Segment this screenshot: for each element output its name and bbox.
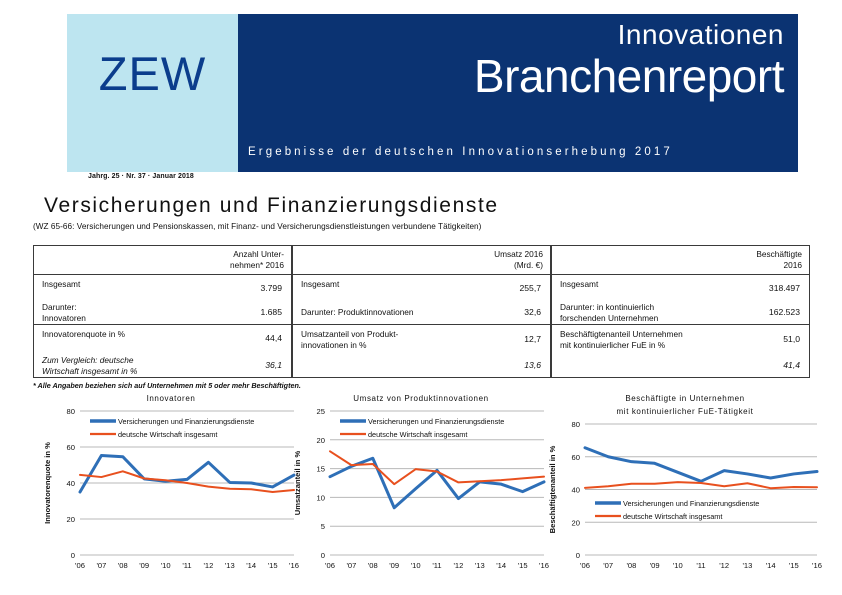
chart-canvas: 0510152025'06'07'08'09'10'11'12'13'14'15… <box>290 405 552 575</box>
x-tick-label: '15 <box>789 561 799 570</box>
y-tick-label: 80 <box>67 407 75 416</box>
row-label: Beschäftigtenanteil Unternehmen mit kont… <box>560 329 683 350</box>
row-label-l2: Innovatoren <box>42 313 86 323</box>
legend-label: Versicherungen und Finanzierungsdienste <box>118 417 254 426</box>
issue-line: Jahrg. 25 · Nr. 37 · Januar 2018 <box>88 173 194 180</box>
x-tick-label: '10 <box>411 561 421 570</box>
y-tick-label: 0 <box>576 551 580 560</box>
zew-logo-panel: ZEW <box>67 14 238 137</box>
kpi-group-employees-share: Beschäftigtenanteil Unternehmen mit kont… <box>551 325 810 378</box>
table-row: Beschäftigtenanteil Unternehmen mit kont… <box>552 325 809 351</box>
chart-canvas: 020406080'06'07'08'09'10'11'12'13'14'15'… <box>40 405 302 575</box>
masthead-title-line2: Branchenreport <box>474 53 784 99</box>
table-row: Innovatorenquote in % 44,4 <box>34 325 291 351</box>
y-tick-label: 20 <box>317 436 325 445</box>
row-value: 3.799 <box>260 283 282 293</box>
chart-umsatz: Umsatz von Produktinnovationen 051015202… <box>290 392 552 577</box>
chart-title: Innovatoren <box>40 392 302 405</box>
masthead-subtitle-spacer <box>67 137 238 172</box>
row-label-l1: Beschäftigtenanteil Unternehmen <box>560 329 683 339</box>
row-label-l1: Zum Vergleich: deutsche <box>42 355 133 365</box>
row-value: 255,7 <box>519 283 541 293</box>
masthead-subtitle-panel: Ergebnisse der deutschen Innovationserhe… <box>238 137 798 172</box>
chart-title: Umsatz von Produktinnovationen <box>290 392 552 405</box>
x-tick-label: '06 <box>325 561 335 570</box>
row-label: Umsatzanteil von Produkt- innovationen i… <box>301 329 398 350</box>
row-value: 318.497 <box>769 283 800 293</box>
row-label-l2: innovationen in % <box>301 340 367 350</box>
kpi-header-revenue-l1: Umsatz 2016 <box>494 249 543 259</box>
table-row: Zum Vergleich: deutsche Wirtschaft insge… <box>34 351 291 377</box>
x-tick-label: '10 <box>673 561 683 570</box>
x-tick-label: '12 <box>453 561 463 570</box>
masthead-subtitle-text: Ergebnisse der deutschen Innovationserhe… <box>248 146 673 158</box>
row-label: Zum Vergleich: deutsche Wirtschaft insge… <box>42 355 137 376</box>
x-tick-label: '06 <box>580 561 590 570</box>
x-tick-label: '08 <box>118 561 128 570</box>
row-value: 51,0 <box>783 334 800 344</box>
row-label: Insgesamt <box>42 279 80 290</box>
kpi-group-revenue-share: Umsatzanteil von Produkt- innovationen i… <box>292 325 551 378</box>
kpi-header-revenue-text: Umsatz 2016 (Mrd. €) <box>494 249 543 271</box>
row-value: 162.523 <box>769 307 800 317</box>
table-row: Insgesamt 318.497 <box>552 275 809 298</box>
row-value: 32,6 <box>524 307 541 317</box>
masthead-title-line1: Innovationen <box>618 21 784 49</box>
series-line <box>80 471 294 492</box>
kpi-group-employees-abs: Insgesamt 318.497 Darunter: in kontinuie… <box>551 275 810 325</box>
row-label-l2: forschenden Unternehmen <box>560 313 658 323</box>
x-tick-label: '14 <box>766 561 776 570</box>
kpi-header-companies-l2: nehmen* 2016 <box>230 260 284 270</box>
legend-label: deutsche Wirtschaft insgesamt <box>623 512 722 521</box>
kpi-header-companies-text: Anzahl Unter- nehmen* 2016 <box>230 249 284 271</box>
table-row: 13,6 <box>293 351 550 377</box>
y-axis-title: Umsatzanteil in % <box>293 450 302 515</box>
row-label: Darunter: Produktinnovationen <box>301 307 414 318</box>
x-tick-label: '07 <box>603 561 613 570</box>
chart-canvas: 020406080'06'07'08'09'10'11'12'13'14'15'… <box>545 418 825 575</box>
x-tick-label: '09 <box>389 561 399 570</box>
y-tick-label: 15 <box>317 465 325 474</box>
series-line <box>585 482 817 488</box>
row-label: Insgesamt <box>301 279 339 290</box>
y-tick-label: 10 <box>317 493 325 502</box>
x-tick-label: '06 <box>75 561 85 570</box>
y-tick-label: 0 <box>321 551 325 560</box>
row-label: Darunter: Innovatoren <box>42 302 86 323</box>
x-tick-label: '11 <box>432 561 441 570</box>
x-tick-label: '13 <box>742 561 752 570</box>
kpi-header-companies: Anzahl Unter- nehmen* 2016 <box>33 245 292 275</box>
row-value: 36,1 <box>265 360 282 370</box>
x-tick-label: '08 <box>368 561 378 570</box>
y-tick-label: 40 <box>67 479 75 488</box>
legend-label: Versicherungen und Finanzierungsdienste <box>623 499 759 508</box>
legend-label: deutsche Wirtschaft insgesamt <box>368 430 467 439</box>
row-value: 12,7 <box>524 334 541 344</box>
x-tick-label: '14 <box>246 561 256 570</box>
row-label-l1: Darunter: in kontinuierlich <box>560 302 654 312</box>
kpi-header-employees: Beschäftigte 2016 <box>551 245 810 275</box>
x-tick-label: '13 <box>225 561 235 570</box>
page-subtitle: (WZ 65-66: Versicherungen und Pensionska… <box>33 222 481 231</box>
series-line <box>330 458 544 508</box>
y-tick-label: 5 <box>321 522 325 531</box>
kpi-header-employees-l2: 2016 <box>784 260 802 270</box>
masthead-subtitle-row: Ergebnisse der deutschen Innovationserhe… <box>67 137 798 172</box>
chart-title-line2: mit kontinuierlicher FuE-Tätigkeit <box>545 405 825 418</box>
zew-logo-text: ZEW <box>99 50 206 97</box>
row-label: Insgesamt <box>560 279 598 290</box>
kpi-header-companies-l1: Anzahl Unter- <box>233 249 284 259</box>
series-line <box>330 451 544 484</box>
x-tick-label: '14 <box>496 561 506 570</box>
masthead-main-row: ZEW Innovationen Branchenreport <box>67 14 798 137</box>
masthead-banner: ZEW Innovationen Branchenreport Ergebnis… <box>67 14 798 172</box>
y-tick-label: 60 <box>572 453 580 462</box>
x-tick-label: '12 <box>203 561 213 570</box>
masthead-title-panel: Innovationen Branchenreport <box>238 14 798 137</box>
y-tick-label: 20 <box>572 518 580 527</box>
y-tick-label: 80 <box>572 420 580 429</box>
row-value: 13,6 <box>524 360 541 370</box>
x-tick-label: '08 <box>626 561 636 570</box>
kpi-header-employees-text: Beschäftigte 2016 <box>756 249 802 271</box>
kpi-block-revenue: Umsatz 2016 (Mrd. €) Insgesamt 255,7 Dar… <box>292 245 551 378</box>
x-tick-label: '09 <box>139 561 149 570</box>
y-tick-label: 40 <box>572 486 580 495</box>
kpi-block-employees: Beschäftigte 2016 Insgesamt 318.497 Daru… <box>551 245 810 378</box>
x-tick-label: '10 <box>161 561 171 570</box>
table-row: Darunter: Produktinnovationen 32,6 <box>293 298 550 324</box>
table-row: 41,4 <box>552 351 809 377</box>
x-tick-label: '11 <box>696 561 705 570</box>
table-row: Darunter: in kontinuierlich forschenden … <box>552 298 809 324</box>
row-label-l2: Wirtschaft insgesamt in % <box>42 366 137 376</box>
kpi-group-companies-abs: Insgesamt 3.799 Darunter: Innovatoren 1.… <box>33 275 292 325</box>
row-value: 41,4 <box>783 360 800 370</box>
table-row: Insgesamt 3.799 <box>34 275 291 298</box>
kpi-group-revenue-abs: Insgesamt 255,7 Darunter: Produktinnovat… <box>292 275 551 325</box>
chart-title: Beschäftigte in Unternehmen <box>545 392 825 405</box>
row-label: Innovatorenquote in % <box>42 329 125 340</box>
row-label-l2: mit kontinuierlicher FuE in % <box>560 340 665 350</box>
x-tick-label: '15 <box>518 561 528 570</box>
table-row: Darunter: Innovatoren 1.685 <box>34 298 291 324</box>
kpi-group-companies-share: Innovatorenquote in % 44,4 Zum Vergleich… <box>33 325 292 378</box>
kpi-block-companies: Anzahl Unter- nehmen* 2016 Insgesamt 3.7… <box>33 245 292 378</box>
y-tick-label: 25 <box>317 407 325 416</box>
table-row: Insgesamt 255,7 <box>293 275 550 298</box>
x-tick-label: '13 <box>475 561 485 570</box>
x-tick-label: '11 <box>182 561 191 570</box>
table-header-row: Anzahl Unter- nehmen* 2016 Insgesamt 3.7… <box>33 245 810 378</box>
row-value: 1.685 <box>260 307 282 317</box>
kpi-table: Anzahl Unter- nehmen* 2016 Insgesamt 3.7… <box>33 245 810 378</box>
y-axis-title: Beschäftigtenanteil in % <box>548 445 557 533</box>
kpi-header-revenue-l2: (Mrd. €) <box>514 260 543 270</box>
x-tick-label: '09 <box>650 561 660 570</box>
table-footnote: * Alle Angaben beziehen sich auf Unterne… <box>33 381 301 390</box>
x-tick-label: '07 <box>346 561 356 570</box>
row-value: 44,4 <box>265 333 282 343</box>
legend-label: deutsche Wirtschaft insgesamt <box>118 430 217 439</box>
y-tick-label: 20 <box>67 515 75 524</box>
page-title: Versicherungen und Finanzierungsdienste <box>44 194 499 218</box>
x-tick-label: '16 <box>812 561 822 570</box>
y-axis-title: Innovatorenquote in % <box>43 442 52 524</box>
y-tick-label: 0 <box>71 551 75 560</box>
series-line <box>585 448 817 482</box>
chart-innovatoren: Innovatoren 020406080'06'07'08'09'10'11'… <box>40 392 302 577</box>
x-tick-label: '07 <box>96 561 106 570</box>
row-label-l1: Umsatzanteil von Produkt- <box>301 329 398 339</box>
legend-label: Versicherungen und Finanzierungsdienste <box>368 417 504 426</box>
row-label-l1: Darunter: <box>42 302 77 312</box>
row-label: Darunter: in kontinuierlich forschenden … <box>560 302 658 323</box>
kpi-header-employees-l1: Beschäftigte <box>756 249 802 259</box>
chart-beschaeftigte: Beschäftigte in Unternehmen mit kontinui… <box>545 392 825 577</box>
y-tick-label: 60 <box>67 443 75 452</box>
kpi-header-revenue: Umsatz 2016 (Mrd. €) <box>292 245 551 275</box>
x-tick-label: '12 <box>719 561 729 570</box>
x-tick-label: '15 <box>268 561 278 570</box>
table-row: Umsatzanteil von Produkt- innovationen i… <box>293 325 550 351</box>
